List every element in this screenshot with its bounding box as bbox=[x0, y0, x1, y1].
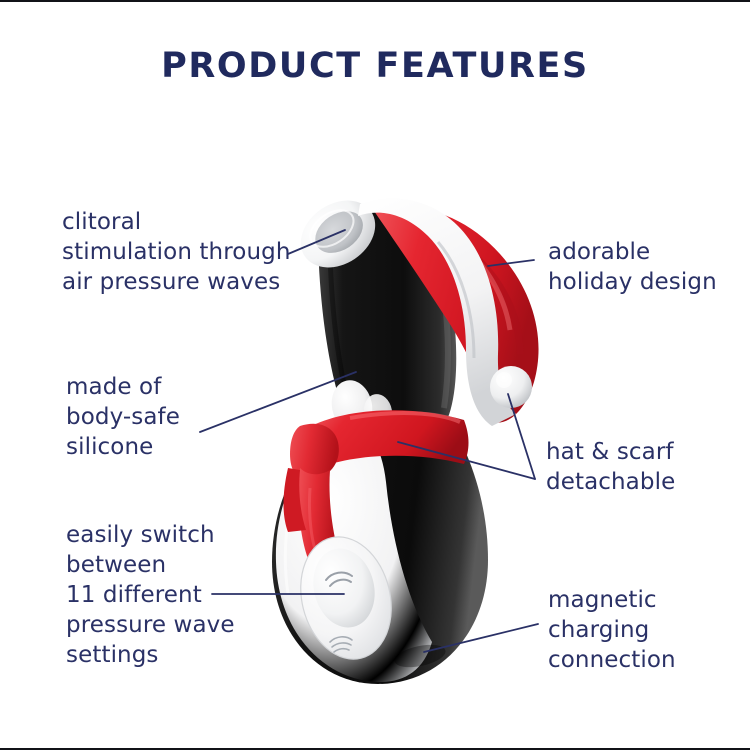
callout-magnetic-line1: magnetic bbox=[548, 585, 676, 615]
callout-holiday-line2: holiday design bbox=[548, 267, 717, 297]
callout-settings-line5: settings bbox=[66, 640, 235, 670]
callout-silicone-line1: made of bbox=[66, 372, 180, 402]
hat-pompom bbox=[490, 366, 532, 408]
callout-settings-line4: pressure wave bbox=[66, 610, 235, 640]
callout-settings-line1: easily switch bbox=[66, 520, 235, 550]
callout-holiday-line1: adorable bbox=[548, 237, 717, 267]
callout-magnetic: magnetic charging connection bbox=[548, 585, 676, 675]
product-features-infographic: PRODUCT FEATURES bbox=[0, 0, 750, 750]
callout-magnetic-line3: connection bbox=[548, 645, 676, 675]
callout-settings-line3: 11 different bbox=[66, 580, 235, 610]
callout-detachable: hat & scarf detachable bbox=[546, 437, 675, 497]
callout-silicone-line3: silicone bbox=[66, 432, 180, 462]
callout-silicone-line2: body-safe bbox=[66, 402, 180, 432]
callout-clitoral-line3: air pressure waves bbox=[62, 267, 291, 297]
callout-detachable-line1: hat & scarf bbox=[546, 437, 675, 467]
callout-clitoral: clitoral stimulation through air pressur… bbox=[62, 207, 291, 297]
callout-settings-line2: between bbox=[66, 550, 235, 580]
callout-clitoral-line2: stimulation through bbox=[62, 237, 291, 267]
callout-clitoral-line1: clitoral bbox=[62, 207, 291, 237]
callout-magnetic-line2: charging bbox=[548, 615, 676, 645]
callout-detachable-line2: detachable bbox=[546, 467, 675, 497]
callout-silicone: made of body-safe silicone bbox=[66, 372, 180, 462]
callout-holiday: adorable holiday design bbox=[548, 237, 717, 297]
callout-settings: easily switch between 11 different press… bbox=[66, 520, 235, 670]
